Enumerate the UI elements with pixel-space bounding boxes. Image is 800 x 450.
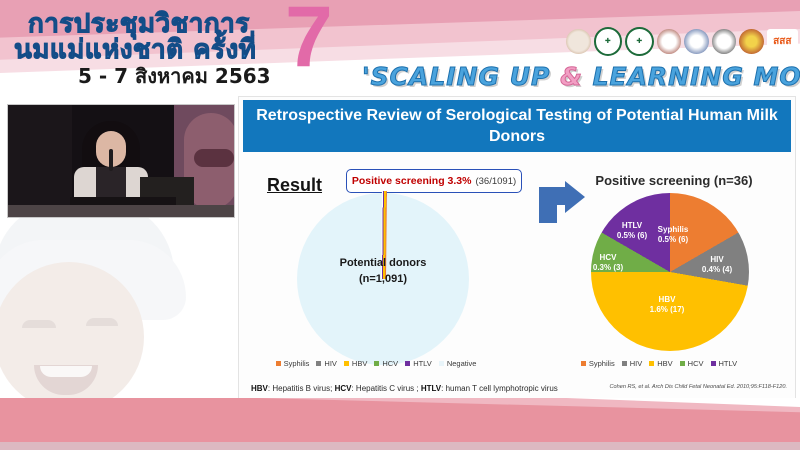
footnote-abbr-hbv: HBV (251, 384, 268, 393)
potential-donors-center-label: Potential donors (n=1,091) (297, 255, 469, 287)
microphone-icon (109, 149, 113, 171)
legend2-swatch-syphilis (581, 361, 586, 366)
legend-swatch-hcv (374, 361, 379, 366)
legend-item-hcv: HCV (374, 359, 398, 368)
legend-potential-donors: Syphilis HIV HBV HCV HTLV Negative (271, 359, 481, 368)
legend2-label-hbv: HBV (657, 359, 672, 368)
legend-swatch-hiv (316, 361, 321, 366)
legend-swatch-htlv (405, 361, 410, 366)
legend-label-hiv: HIV (324, 359, 337, 368)
slide-citation: Cohen RS, et al. Arch Dis Child Fetal Ne… (609, 384, 787, 390)
slice-name-hiv: HIV (691, 255, 743, 265)
legend-label-syphilis: Syphilis (284, 359, 310, 368)
slice-name-htlv: HTLV (604, 221, 660, 231)
slice-value-htlv: 0.5% (6) (604, 231, 660, 241)
conference-edition-number: 7 (285, 0, 333, 80)
footnote-text-hcv: : Hepatitis C virus ; (351, 384, 420, 393)
potential-donors-pie: Potential donors (n=1,091) (297, 193, 469, 365)
donors-label-line1: Potential donors (297, 255, 469, 271)
legend2-item-htlv: HTLV (711, 359, 738, 368)
slice-label-hcv: HCV 0.3% (3) (583, 253, 633, 273)
slice-value-hiv: 0.4% (4) (691, 265, 743, 275)
legend2-item-hiv: HIV (622, 359, 643, 368)
video-overlay-face-shadow (194, 149, 234, 167)
tagline-part2: LEARNING MORE' (583, 62, 800, 91)
footnote-text-hbv: : Hepatitis B virus; (268, 384, 335, 393)
legend2-label-htlv: HTLV (719, 359, 738, 368)
conference-header: การประชุมวิชาการ นมแม่แห่งชาติ ครั้งที่ … (0, 0, 800, 95)
legend-item-htlv: HTLV (405, 359, 432, 368)
legend2-item-syphilis: Syphilis (581, 359, 615, 368)
positive-screening-title: Positive screening (n=36) (569, 173, 779, 188)
presenter-video-feed[interactable] (7, 104, 235, 218)
child-eye-left (22, 320, 56, 328)
legend-item-negative: Negative (439, 359, 477, 368)
slide-title: Retrospective Review of Serological Test… (243, 100, 791, 152)
legend-swatch-hbv (344, 361, 349, 366)
legend2-swatch-htlv (711, 361, 716, 366)
positive-screening-callout: Positive screening 3.3% (36/1091) (346, 169, 522, 193)
sponsor-logos: ✚ ✚ สสส (566, 26, 798, 56)
legend-swatch-syphilis (276, 361, 281, 366)
callout-highlight: Positive screening 3.3% (352, 175, 472, 187)
legend-item-hiv: HIV (316, 359, 337, 368)
donors-label-line2: (n=1,091) (297, 271, 469, 287)
legend-item-hbv: HBV (344, 359, 367, 368)
legend2-swatch-hiv (622, 361, 627, 366)
conference-dates: 5 - 7 สิงหาคม 2563 (78, 60, 271, 92)
screen: การประชุมวิชาการ นมแม่แห่งชาติ ครั้งที่ … (0, 0, 800, 450)
footer-band (0, 398, 800, 450)
slice-label-hbv: HBV 1.6% (17) (636, 295, 698, 315)
footer-bottom-line (0, 442, 800, 450)
slice-name-hbv: HBV (636, 295, 698, 305)
logo-foundation (566, 29, 591, 54)
logo-dept-health: ✚ (625, 27, 654, 56)
callout-detail: (36/1091) (475, 176, 516, 187)
stage-desk (8, 205, 234, 217)
legend-swatch-negative (439, 361, 444, 366)
slice-value-hbv: 1.6% (17) (636, 305, 698, 315)
legend-label-hcv: HCV (382, 359, 398, 368)
legend2-swatch-hcv (680, 361, 685, 366)
legend-item-syphilis: Syphilis (276, 359, 310, 368)
slice-label-htlv: HTLV 0.5% (6) (604, 221, 660, 241)
footnote-text-htlv: : human T cell lymphotropic virus (441, 384, 558, 393)
result-heading: Result (267, 175, 322, 196)
presentation-slide: Retrospective Review of Serological Test… (238, 96, 796, 404)
legend-label-hbv: HBV (352, 359, 367, 368)
legend-label-negative: Negative (447, 359, 477, 368)
slice-value-hcv: 0.3% (3) (583, 263, 633, 273)
logo-ministry-health: ✚ (594, 27, 623, 56)
footnote-abbr-hcv: HCV (335, 384, 352, 393)
legend2-swatch-hbv (649, 361, 654, 366)
legend2-label-syphilis: Syphilis (589, 359, 615, 368)
legend-positive-screening: Syphilis HIV HBV HCV HTLV (549, 359, 769, 368)
legend2-item-hbv: HBV (649, 359, 672, 368)
logo-thai-emblem (684, 29, 709, 54)
child-teeth (40, 366, 92, 377)
logo-nursing-council (712, 29, 737, 54)
conference-tagline: 'SCALING UP & LEARNING MORE' (362, 62, 800, 91)
legend-label-htlv: HTLV (413, 359, 432, 368)
logo-thaihealth: สสส (767, 29, 798, 54)
legend2-label-hiv: HIV (630, 359, 643, 368)
child-eye-right (86, 318, 118, 326)
slice-label-hiv: HIV 0.4% (4) (691, 255, 743, 275)
video-wall-left (8, 105, 72, 217)
legend2-item-hcv: HCV (680, 359, 704, 368)
footnote-abbr-htlv: HTLV (421, 384, 441, 393)
tagline-ampersand: & (560, 62, 583, 91)
slice-name-hcv: HCV (583, 253, 633, 263)
legend2-label-hcv: HCV (688, 359, 704, 368)
logo-royal-college (657, 29, 682, 54)
logo-medical-council (739, 29, 764, 54)
tagline-part1: 'SCALING UP (362, 62, 560, 91)
